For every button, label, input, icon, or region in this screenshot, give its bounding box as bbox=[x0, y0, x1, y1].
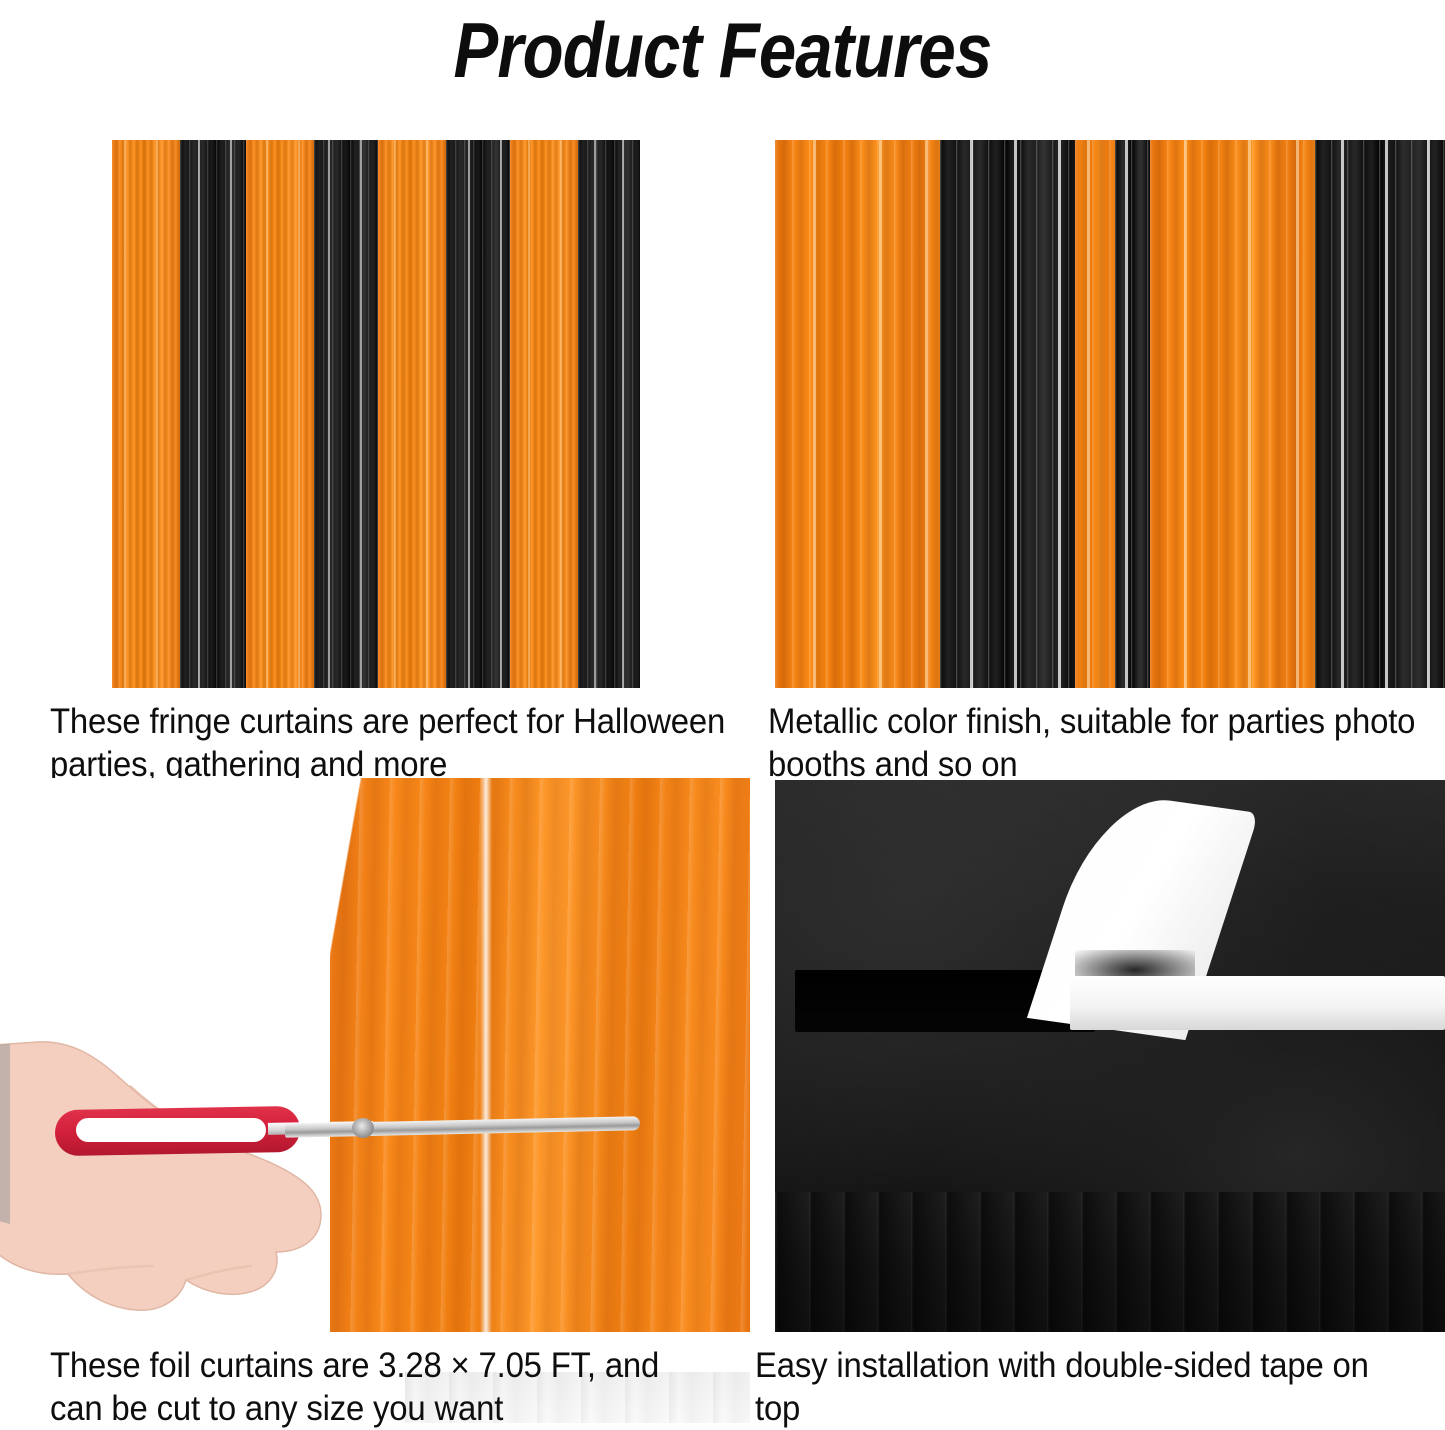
foil-band-orange bbox=[775, 140, 940, 688]
stripe-row bbox=[112, 140, 640, 688]
page-title: Product Features bbox=[101, 2, 1344, 98]
fringe-stripe-orange bbox=[246, 140, 314, 688]
fringe-curtain-stripes-photo bbox=[112, 140, 640, 688]
foil-band-black bbox=[1115, 140, 1150, 688]
fringe-stripe-black bbox=[314, 140, 378, 688]
foil-band-black bbox=[1315, 140, 1445, 688]
foil-band-orange bbox=[1150, 140, 1315, 688]
fringe-stripe-black bbox=[180, 140, 246, 688]
cutting-to-size-photo bbox=[0, 778, 750, 1332]
fringe-strips bbox=[775, 1192, 1445, 1332]
caption-metallic-finish: Metallic color finish, suitable for part… bbox=[768, 700, 1417, 786]
fringe-stripe-black bbox=[578, 140, 640, 688]
hand-illustration bbox=[0, 1028, 410, 1328]
foil-band-black bbox=[940, 140, 1075, 688]
caption-fringe-curtains: These fringe curtains are perfect for Ha… bbox=[50, 700, 736, 786]
fringe-stripe-orange bbox=[378, 140, 446, 688]
scissors-pivot-screw bbox=[352, 1118, 374, 1138]
caption-curtain-dimensions: These foil curtains are 3.28 × 7.05 FT, … bbox=[50, 1344, 708, 1430]
fringe-stripe-orange bbox=[510, 140, 578, 688]
double-sided-tape-photo bbox=[775, 780, 1445, 1332]
double-sided-tape-strip bbox=[1070, 976, 1445, 1030]
scissors-handle-hole bbox=[76, 1118, 266, 1142]
band-row bbox=[775, 140, 1445, 688]
foil-band-orange bbox=[1075, 140, 1115, 688]
fringe-stripe-black bbox=[446, 140, 510, 688]
metallic-finish-closeup-photo bbox=[775, 140, 1445, 688]
fringe-stripe-orange bbox=[112, 140, 180, 688]
caption-tape-installation: Easy installation with double-sided tape… bbox=[755, 1344, 1413, 1430]
